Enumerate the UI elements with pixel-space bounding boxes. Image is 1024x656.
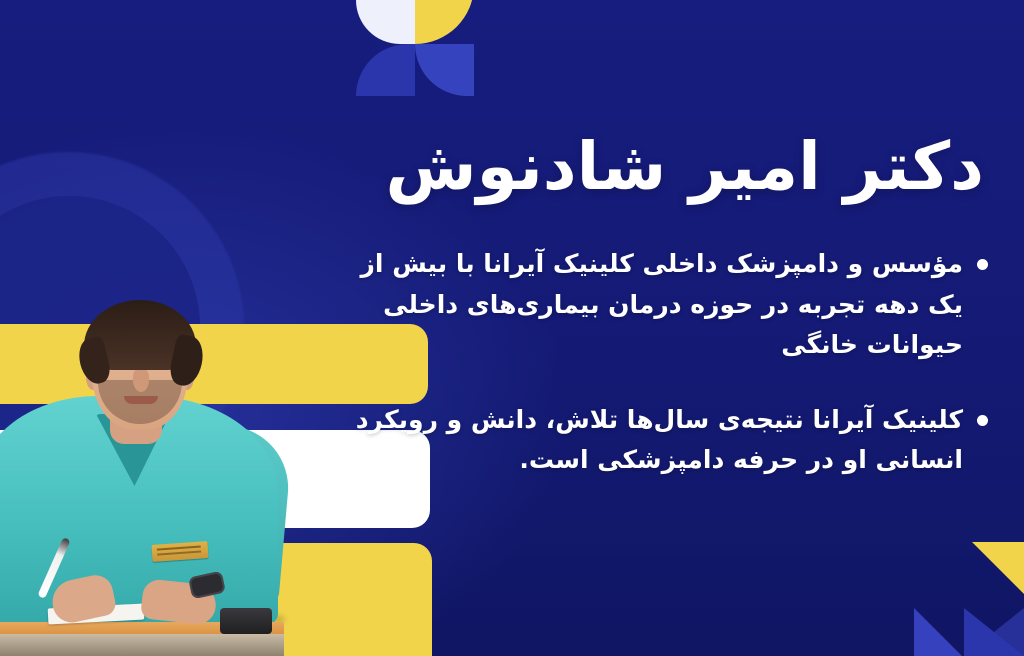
bullet-text: مؤسس و دامپزشک داخلی کلینیک آیرانا با بی…: [348, 244, 963, 366]
triangle-corner-icon: [900, 520, 1024, 656]
list-item: کلینیک آیرانا نتیجه‌ی سال‌ها تلاش، دانش …: [348, 400, 988, 481]
corner-triangle-yellow-icon: [972, 542, 1024, 594]
bullet-list: مؤسس و دامپزشک داخلی کلینیک آیرانا با بی…: [348, 244, 988, 515]
page-title: دکتر امیر شادنوش: [224, 130, 984, 204]
doctor-portrait: [0, 278, 288, 656]
logo-blue-quarter-left-icon: [356, 44, 415, 96]
corner-triangle-blue-a-icon: [914, 608, 962, 656]
bullet-text: کلینیک آیرانا نتیجه‌ی سال‌ها تلاش، دانش …: [348, 400, 963, 481]
logo-white-semicircle-icon: [356, 0, 415, 44]
photo-fade: [0, 630, 284, 656]
bullet-dot-icon: [977, 415, 988, 426]
logo-blue-quarter-right-icon: [415, 44, 474, 96]
bullet-dot-icon: [977, 259, 988, 270]
promo-banner: دکتر امیر شادنوش مؤسس و دامپزشک داخلی کل…: [0, 0, 1024, 656]
quarter-circle-logo-icon: [356, 0, 474, 96]
corner-triangle-blue-b-icon: [964, 608, 1024, 656]
nose: [133, 368, 149, 392]
logo-yellow-quarter-icon: [415, 0, 474, 44]
mouth: [124, 396, 158, 404]
list-item: مؤسس و دامپزشک داخلی کلینیک آیرانا با بی…: [348, 244, 988, 366]
